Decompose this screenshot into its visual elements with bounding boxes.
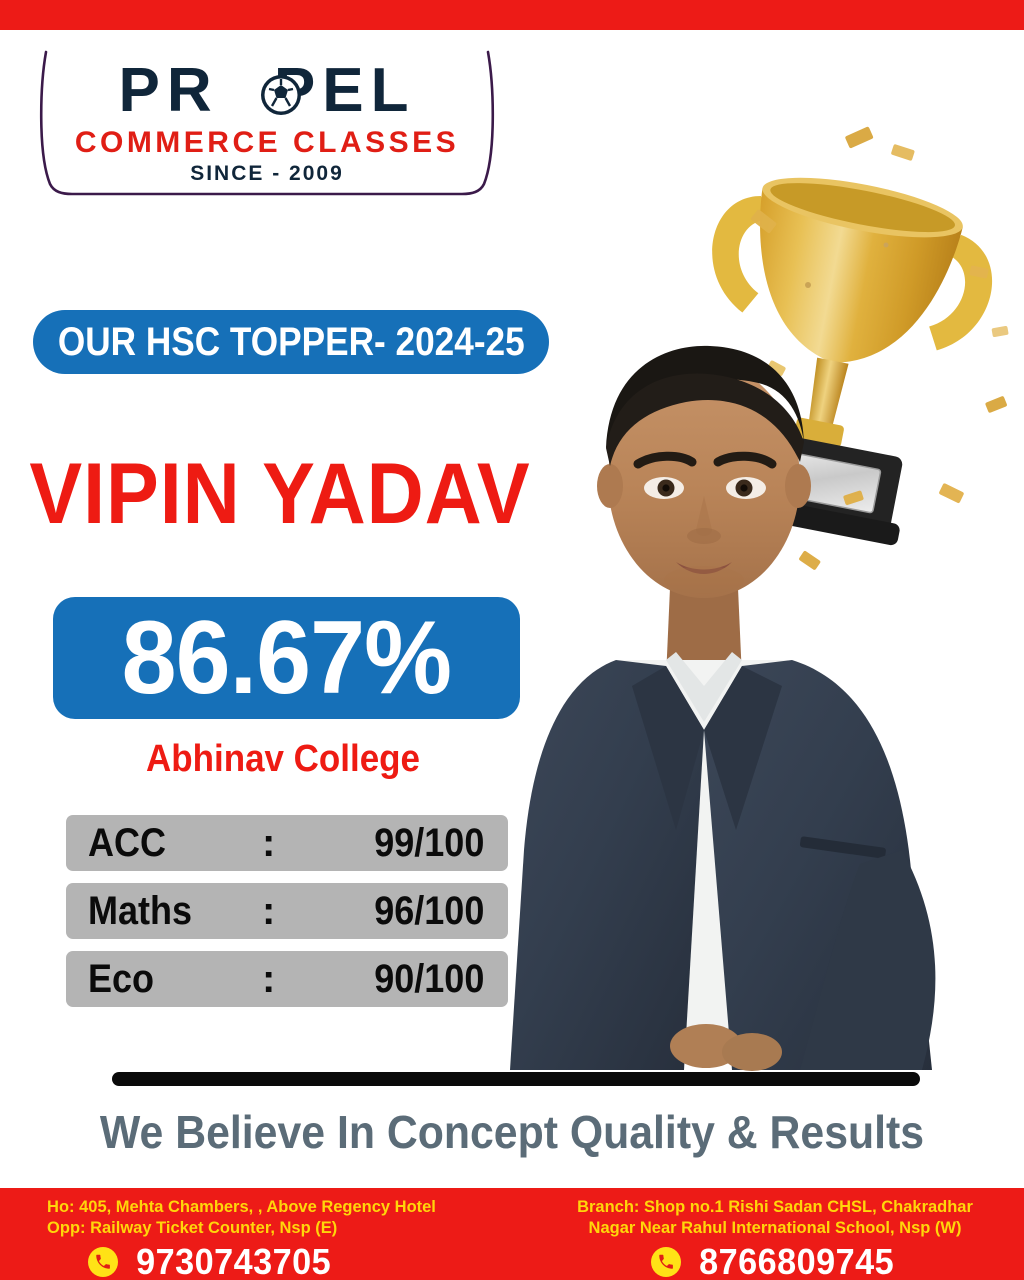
tagline-text: We Believe In Concept Quality & Results [36, 1105, 988, 1159]
logo-since-text: SINCE - 2009 [32, 162, 502, 186]
logo-text-block: PROPEL COMMERCE CLASSES SINCE - 2009 [32, 46, 502, 186]
contact-block-head-office: Ho: 405, Mehta Chambers, , Above Regency… [40, 1196, 510, 1280]
score-value: 99/100 [374, 822, 484, 864]
student-photo [470, 330, 1024, 1090]
top-red-bar [0, 0, 1024, 30]
marks-table: ACC : 99/100 Maths : 96/100 Eco : 90/100 [66, 815, 508, 1019]
student-portrait-illustration [470, 330, 1024, 1090]
student-name: VIPIN YADAV [22, 448, 537, 540]
subject-label: Maths [88, 890, 192, 932]
table-row: Maths : 96/100 [66, 883, 508, 939]
separator-colon: : [262, 890, 275, 932]
poster-root: PROPEL COMMERCE CLASSES SINCE - 2009 [0, 0, 1024, 1280]
divider-bar [112, 1072, 920, 1086]
table-row: ACC : 99/100 [66, 815, 508, 871]
address-line-2: Opp: Railway Ticket Counter, Nsp (E) [47, 1217, 503, 1238]
phone-number: 8766809745 [699, 1243, 894, 1280]
address-line-1: Branch: Shop no.1 Rishi Sadan CHSL, Chak… [547, 1196, 1003, 1217]
phone-row[interactable]: 8766809745 [540, 1243, 1010, 1280]
logo-subtitle: COMMERCE CLASSES [32, 126, 502, 160]
address-line-1: Ho: 405, Mehta Chambers, , Above Regency… [47, 1196, 503, 1217]
separator-colon: : [262, 822, 275, 864]
phone-handset-glyph [94, 1253, 112, 1271]
subject-label: Eco [88, 958, 154, 1000]
phone-row[interactable]: 9730743705 [40, 1243, 510, 1280]
contact-block-branch: Branch: Shop no.1 Rishi Sadan CHSL, Chak… [540, 1196, 1010, 1280]
percentage-pill: 86.67% [53, 597, 520, 719]
score-value: 96/100 [374, 890, 484, 932]
score-value: 90/100 [374, 958, 484, 1000]
phone-number: 9730743705 [136, 1243, 331, 1280]
logo-brand-part1: PR [119, 56, 219, 125]
logo-badge: PROPEL COMMERCE CLASSES SINCE - 2009 [32, 46, 502, 198]
percentage-value: 86.67% [122, 606, 451, 710]
headline-label: OUR HSC TOPPER- 2024-25 [58, 320, 525, 365]
headline-pill: OUR HSC TOPPER- 2024-25 [33, 310, 549, 374]
table-row: Eco : 90/100 [66, 951, 508, 1007]
college-name: Abhinav College [23, 737, 544, 781]
subject-label: ACC [88, 822, 166, 864]
logo-brand-text: PROPEL [32, 58, 502, 124]
separator-colon: : [262, 958, 275, 1000]
phone-icon [88, 1247, 118, 1277]
address-line-2: Nagar Near Rahul International School, N… [547, 1217, 1003, 1238]
soccer-ball-icon [259, 73, 303, 117]
phone-handset-glyph [657, 1253, 675, 1271]
phone-icon [651, 1247, 681, 1277]
